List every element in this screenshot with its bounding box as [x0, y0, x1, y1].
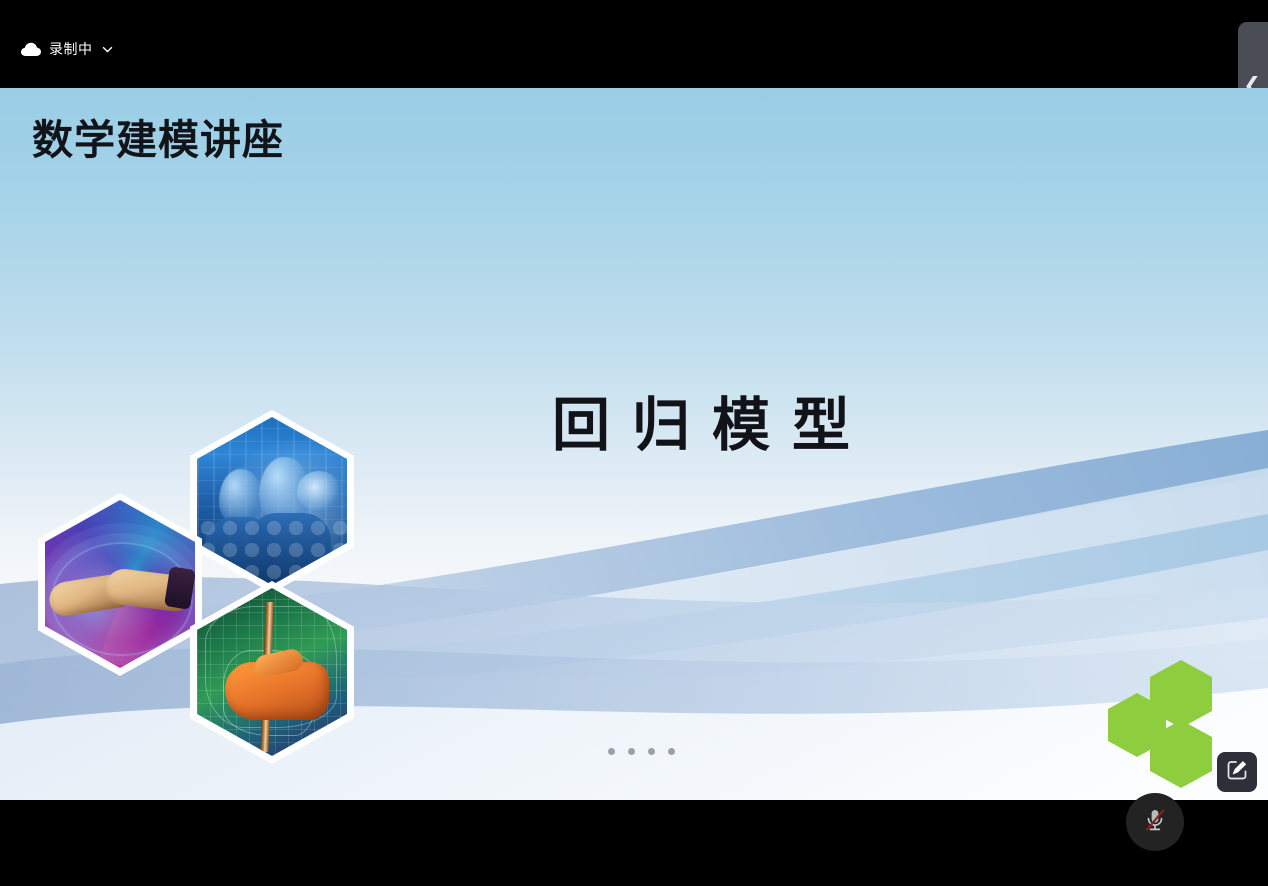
meeting-app-window: 录制中 ❮ — [0, 0, 1268, 886]
hex-photo-handshake — [38, 493, 202, 676]
recording-label: 录制中 — [49, 42, 93, 56]
cloud-icon — [20, 41, 42, 57]
pagination-dot[interactable] — [588, 748, 595, 755]
microphone-muted-icon — [1140, 805, 1170, 840]
hexagon-photo-cluster — [18, 323, 378, 683]
pagination-dot[interactable] — [668, 748, 675, 755]
slide-pagination[interactable] — [588, 748, 675, 755]
chevron-down-icon[interactable] — [101, 43, 114, 56]
hex-photo-writing-grid — [190, 581, 354, 764]
top-bar: 录制中 — [0, 0, 1268, 88]
slide-deck-title: 数学建模讲座 — [32, 118, 284, 163]
shared-screen-slide[interactable]: 数学建模讲座 回归模型 — [0, 88, 1268, 800]
hex-photo-business-tech — [190, 410, 354, 593]
pencil-edit-icon — [1225, 758, 1249, 787]
slide-headline: 回归模型 — [552, 378, 872, 462]
pagination-dot[interactable] — [648, 748, 655, 755]
pagination-dot[interactable] — [608, 748, 615, 755]
microphone-mute-button[interactable] — [1126, 793, 1184, 851]
recording-status-button[interactable]: 录制中 — [20, 36, 114, 62]
pagination-dot[interactable] — [628, 748, 635, 755]
annotate-button[interactable] — [1217, 752, 1257, 792]
